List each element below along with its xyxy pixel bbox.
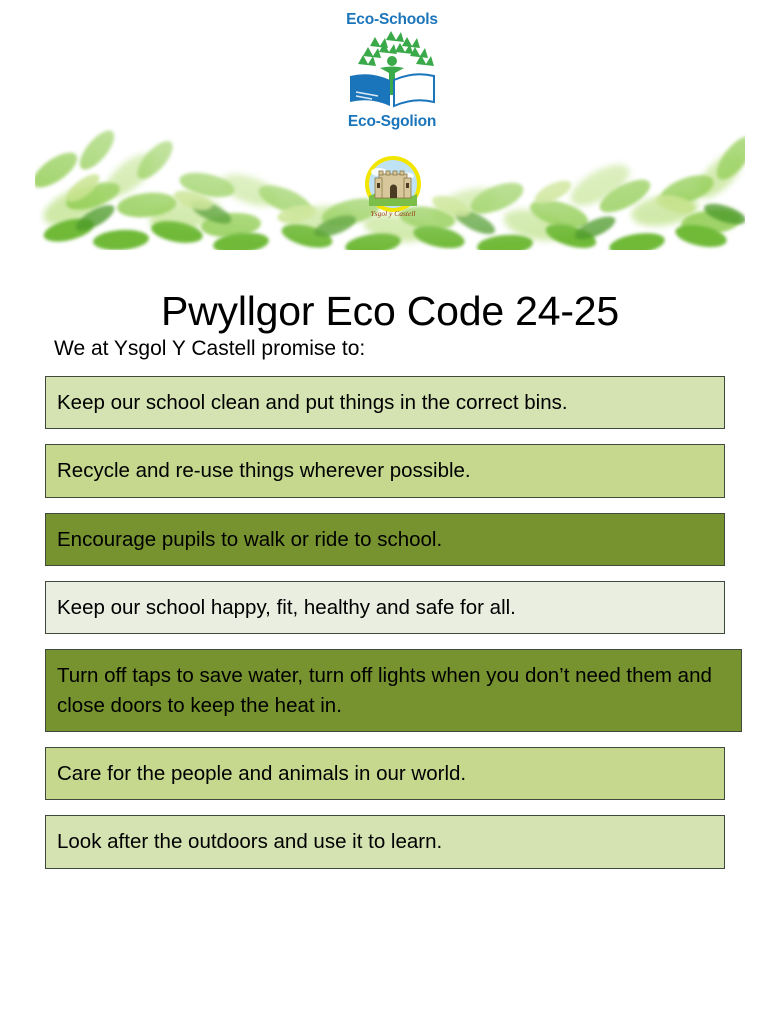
promise-text: Recycle and re-use things wherever possi…: [57, 456, 714, 485]
promise-item: Keep our school happy, fit, healthy and …: [45, 581, 725, 634]
promise-list: Keep our school clean and put things in …: [45, 376, 725, 884]
promise-text: Look after the outdoors and use it to le…: [57, 827, 714, 856]
page-title: Pwyllgor Eco Code 24-25: [0, 289, 780, 335]
eco-schools-tree-book-icon: [342, 30, 442, 108]
promise-text: Encourage pupils to walk or ride to scho…: [57, 525, 714, 554]
eco-schools-logo: Eco-Schools Eco-Sgolion: [333, 12, 451, 140]
promise-item: Look after the outdoors and use it to le…: [45, 815, 725, 868]
crest-motto: Ysgol y Castell: [370, 209, 415, 218]
promise-text: Turn off taps to save water, turn off li…: [57, 661, 731, 720]
eco-schools-top-word: Eco-Schools: [333, 12, 451, 28]
intro-text: We at Ysgol Y Castell promise to:: [54, 336, 365, 361]
promise-text: Keep our school clean and put things in …: [57, 388, 714, 417]
promise-text: Care for the people and animals in our w…: [57, 759, 714, 788]
promise-item: Care for the people and animals in our w…: [45, 747, 725, 800]
promise-item: Encourage pupils to walk or ride to scho…: [45, 513, 725, 566]
eco-schools-bottom-word: Eco-Sgolion: [333, 114, 451, 130]
promise-item: Keep our school clean and put things in …: [45, 376, 725, 429]
promise-item: Turn off taps to save water, turn off li…: [45, 649, 742, 732]
ysgol-y-castell-crest: Ysgol y Castell: [357, 150, 429, 222]
promise-item: Recycle and re-use things wherever possi…: [45, 444, 725, 497]
promise-text: Keep our school happy, fit, healthy and …: [57, 593, 714, 622]
